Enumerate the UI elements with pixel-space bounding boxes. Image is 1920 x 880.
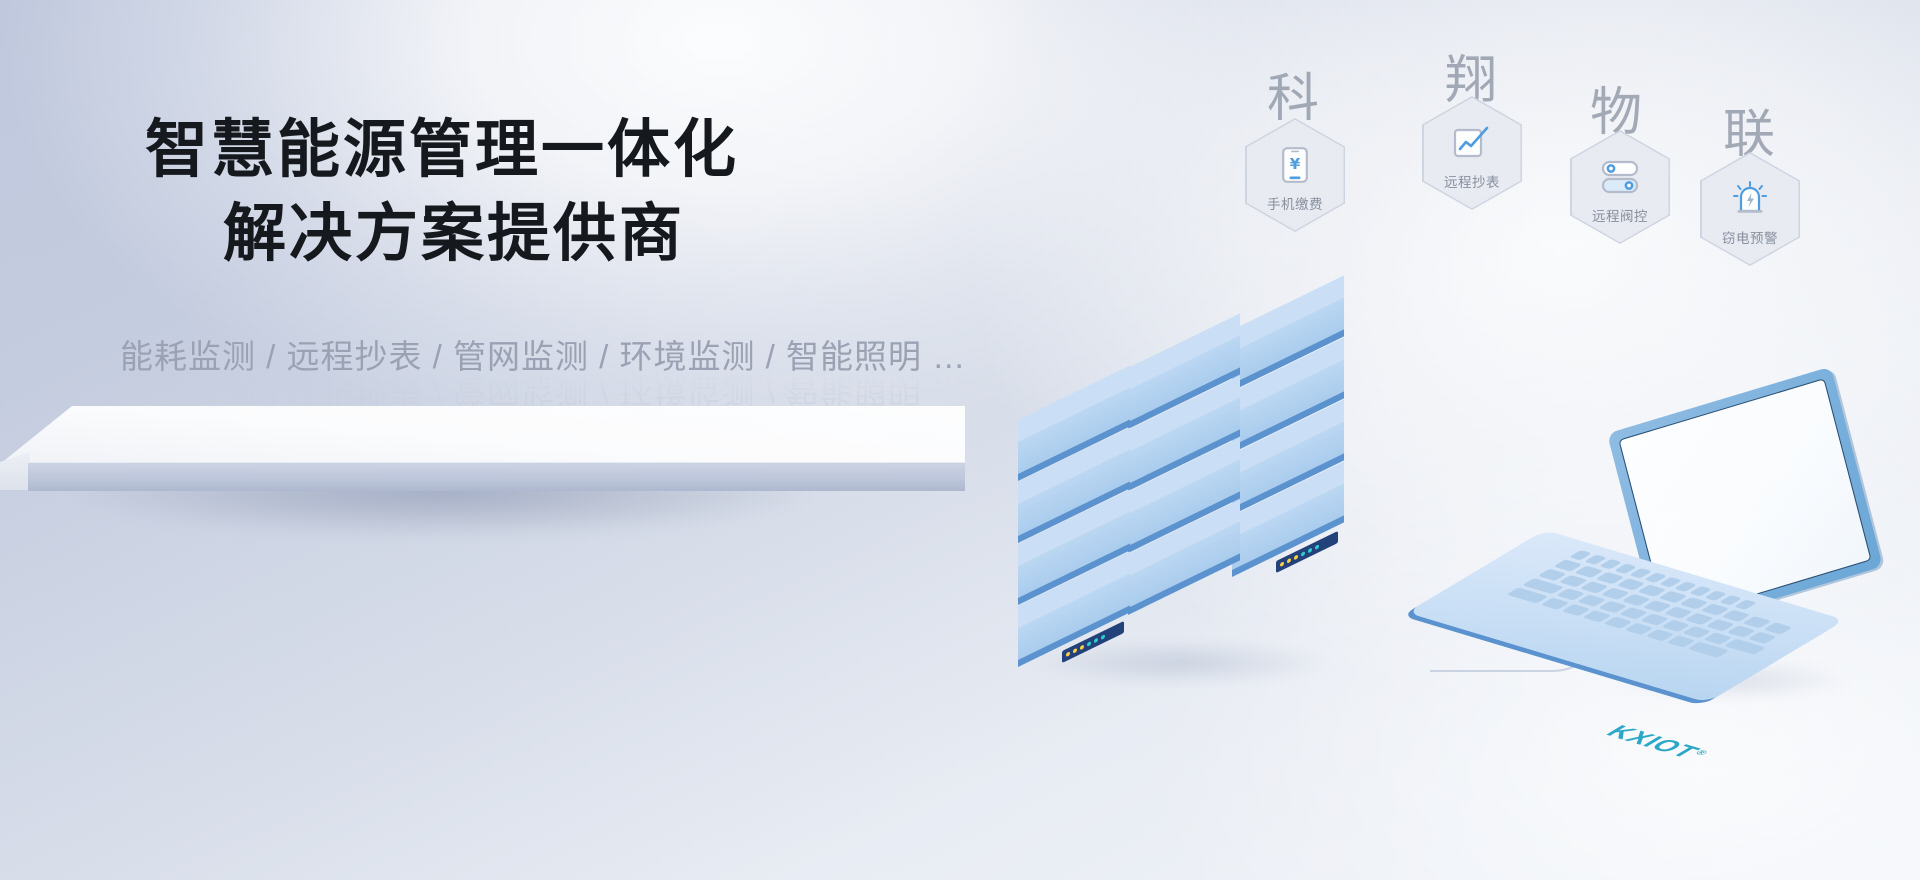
badge-remote-meter-reading[interactable]: 远程抄表 (1422, 96, 1522, 210)
badge-phone-payment[interactable]: ¥ 手机缴费 (1245, 118, 1345, 232)
server-rack-right (1232, 330, 1344, 578)
badge-power-theft-alarm[interactable]: 窃电预警 (1700, 152, 1800, 266)
badge-label: 远程抄表 (1422, 171, 1522, 191)
shelf-side-face (0, 452, 30, 492)
logo-text: KXIOT (1599, 722, 1706, 762)
svg-text:¥: ¥ (1290, 155, 1301, 173)
headline-line-2: 解决方案提供商 (223, 192, 905, 276)
badge-remote-valve-control[interactable]: 远程阀控 (1570, 130, 1670, 244)
meter-chart-icon (1422, 122, 1522, 164)
shelf-top-surface (0, 406, 965, 464)
server-unit (1232, 516, 1344, 578)
badge-label: 远程阀控 (1570, 205, 1670, 225)
server-rack-middle (1128, 368, 1240, 616)
power-alarm-icon (1700, 178, 1800, 220)
valve-toggle-icon (1570, 156, 1670, 198)
banner-stage: 智慧能源管理一体化 解决方案提供商 能耗监测 / 远程抄表 / 管网监测 / 环… (0, 0, 1920, 880)
server-rack-left (1018, 420, 1130, 668)
server-unit (1128, 554, 1240, 616)
laptop-illustration (1545, 400, 1915, 700)
server-unit (1018, 606, 1130, 668)
badge-label: 手机缴费 (1245, 193, 1345, 213)
headline-line-1: 智慧能源管理一体化 (145, 115, 739, 185)
phone-payment-icon: ¥ (1245, 144, 1345, 186)
shelf-front-edge (28, 462, 965, 491)
server-racks-illustration (1000, 330, 1460, 690)
page-title: 智慧能源管理一体化 解决方案提供商 (145, 108, 905, 277)
shelf-platform (0, 370, 1000, 550)
feature-badge-group: 科 翔 物 联 ¥ 手机缴费 (1245, 30, 1905, 260)
kxiot-logo: KXIOT® (1592, 722, 1745, 778)
badge-label: 窃电预警 (1700, 227, 1800, 247)
